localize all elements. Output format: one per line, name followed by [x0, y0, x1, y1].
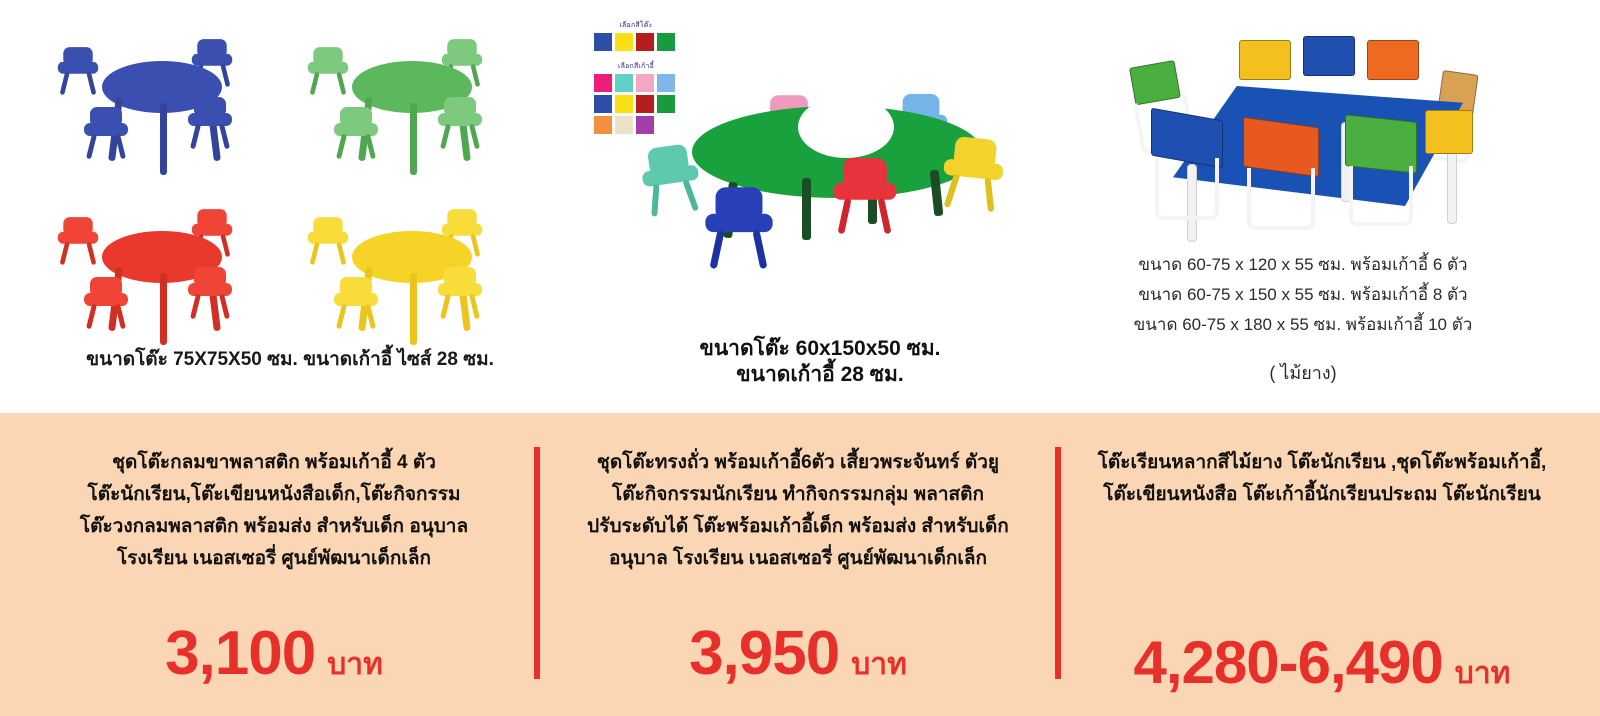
- left-size-caption: ขนาดโต๊ะ 75X75X50 ซม. ขนาดเก้าอี้ ไซส์ 2…: [30, 344, 550, 374]
- chair-red: [84, 277, 128, 329]
- left-price-value: 3,100: [165, 623, 315, 685]
- spec-line-2: ขนาด 60-75 x 150 x 55 ซม. พร้อมเก้าอี้ 8…: [1068, 280, 1538, 310]
- right-price-value: 4,280-6,490: [1134, 633, 1443, 693]
- spec-line-1: ขนาด 60-75 x 120 x 55 ซม. พร้อมเก้าอี้ 6…: [1068, 250, 1538, 280]
- spec-line-3: ขนาด 60-75 x 180 x 55 ซม. พร้อมเก้าอี้ 1…: [1068, 310, 1538, 340]
- table-color-label: เลือกสีโต๊ะ: [594, 20, 678, 31]
- column-divider-2: [1055, 447, 1061, 679]
- table-color-swatch-row: [594, 33, 714, 51]
- middle-size-caption: ขนาดโต๊ะ 60x150x50 ซม. ขนาดเก้าอี้ 28 ซม…: [600, 336, 1040, 389]
- pricing-column-right: โต๊ะเรียนหลากสีไม้ยาง โต๊ะนักเรียน ,ชุดโ…: [1072, 413, 1572, 697]
- left-price-unit: บาท: [327, 641, 383, 688]
- pricing-banner: ชุดโต๊ะกลมขาพลาสติก พร้อมเก้าอี้ 4 ตัว โ…: [0, 413, 1600, 716]
- desc-line-4: อนุบาล โรงเรียน เนอสเซอรี่ ศูนย์พัฒนาเด็…: [552, 543, 1044, 575]
- right-price-row: 4,280-6,490 บาท: [1072, 633, 1572, 697]
- middle-price-value: 3,950: [689, 623, 839, 685]
- desc-line-3: โต๊ะวงกลมพลาสติก พร้อมส่ง สำหรับเด็ก อนุ…: [24, 511, 524, 543]
- middle-caption-line-1: ขนาดโต๊ะ 60x150x50 ซม.: [600, 336, 1040, 362]
- swatch-table-green[interactable]: [657, 33, 675, 51]
- desc-line-3: ปรับระดับได้ โต๊ะพร้อมเก้าอี้เด็ก พร้อมส…: [552, 511, 1044, 543]
- round-table-set-yellow: [290, 185, 535, 350]
- desc-line-1: ชุดโต๊ะทรงถั่ว พร้อมเก้าอี้6ตัว เสี้ยวพร…: [552, 447, 1044, 479]
- material-note: ( ไม้ยาง): [1068, 358, 1538, 387]
- chair-yellow: [308, 217, 348, 265]
- middle-description: ชุดโต๊ะทรงถั่ว พร้อมเก้าอี้6ตัว เสี้ยวพร…: [552, 413, 1044, 575]
- kidney-table-set-photo: [620, 78, 1040, 328]
- chair-blue: [705, 187, 772, 269]
- middle-price-unit: บาท: [851, 641, 907, 688]
- product-images-area: ขนาดโต๊ะ 75X75X50 ซม. ขนาดเก้าอี้ ไซส์ 2…: [0, 0, 1600, 413]
- chair-blue: [188, 97, 232, 149]
- chair-red: [188, 267, 232, 319]
- chair-blue: [84, 107, 128, 159]
- chair-green: [334, 107, 378, 159]
- chair-color-label: เลือกสีเก้าอี้: [594, 61, 678, 72]
- swatch-chair-magenta[interactable]: [594, 74, 612, 92]
- chair-yellow: [438, 267, 482, 319]
- desc-line-4: โรงเรียน เนอสเซอรี่ ศูนย์พัฒนาเด็กเล็ก: [24, 543, 524, 575]
- desc-line-2: โต๊ะเขียนหนังสือ โต๊ะเก้าอี้นักเรียนประถ…: [1072, 479, 1572, 511]
- swatch-table-blue[interactable]: [594, 33, 612, 51]
- swatch-table-red[interactable]: [636, 33, 654, 51]
- chair-red: [834, 158, 897, 234]
- rectangular-table-set-photo: [1095, 14, 1525, 244]
- right-description: โต๊ะเรียนหลากสีไม้ยาง โต๊ะนักเรียน ,ชุดโ…: [1072, 413, 1572, 511]
- round-table-set-red: [40, 185, 285, 350]
- chair-green: [308, 47, 348, 95]
- chair-yellow: [334, 277, 378, 329]
- chair-green: [438, 97, 482, 149]
- round-table-set-blue: [40, 15, 285, 180]
- left-product-gallery: [30, 10, 540, 340]
- chair-red: [58, 217, 98, 265]
- chair-teal: [638, 142, 703, 217]
- swatch-table-yellow[interactable]: [615, 33, 633, 51]
- swatch-chair-blue[interactable]: [594, 95, 612, 113]
- middle-caption-line-2: ขนาดเก้าอี้ 28 ซม.: [600, 362, 1040, 388]
- desc-line-2: โต๊ะนักเรียน,โต๊ะเขียนหนังสือเด็ก,โต๊ะกิ…: [24, 479, 524, 511]
- kidney-notch: [798, 96, 894, 158]
- desc-line-1: โต๊ะเรียนหลากสีไม้ยาง โต๊ะนักเรียน ,ชุดโ…: [1072, 447, 1572, 479]
- middle-price-row: 3,950 บาท: [552, 623, 1044, 688]
- chair-yellow: [940, 135, 1007, 213]
- product-catalog-page: ขนาดโต๊ะ 75X75X50 ซม. ขนาดเก้าอี้ ไซส์ 2…: [0, 0, 1600, 716]
- swatch-chair-orange[interactable]: [594, 116, 612, 134]
- desc-line-1: ชุดโต๊ะกลมขาพลาสติก พร้อมเก้าอี้ 4 ตัว: [24, 447, 524, 479]
- column-divider-1: [534, 447, 540, 679]
- left-description: ชุดโต๊ะกลมขาพลาสติก พร้อมเก้าอี้ 4 ตัว โ…: [24, 413, 524, 575]
- desc-line-2: โต๊ะกิจกรรมนักเรียน ทำกิจกรรมกลุ่ม พลาสต…: [552, 479, 1044, 511]
- left-price-row: 3,100 บาท: [24, 623, 524, 688]
- right-spec-list: ขนาด 60-75 x 120 x 55 ซม. พร้อมเก้าอี้ 6…: [1068, 250, 1538, 339]
- round-table-set-green: [290, 15, 535, 180]
- pricing-column-middle: ชุดโต๊ะทรงถั่ว พร้อมเก้าอี้6ตัว เสี้ยวพร…: [552, 413, 1044, 688]
- right-price-unit: บาท: [1455, 650, 1511, 697]
- chair-blue: [58, 47, 98, 95]
- pricing-column-left: ชุดโต๊ะกลมขาพลาสติก พร้อมเก้าอี้ 4 ตัว โ…: [24, 413, 524, 688]
